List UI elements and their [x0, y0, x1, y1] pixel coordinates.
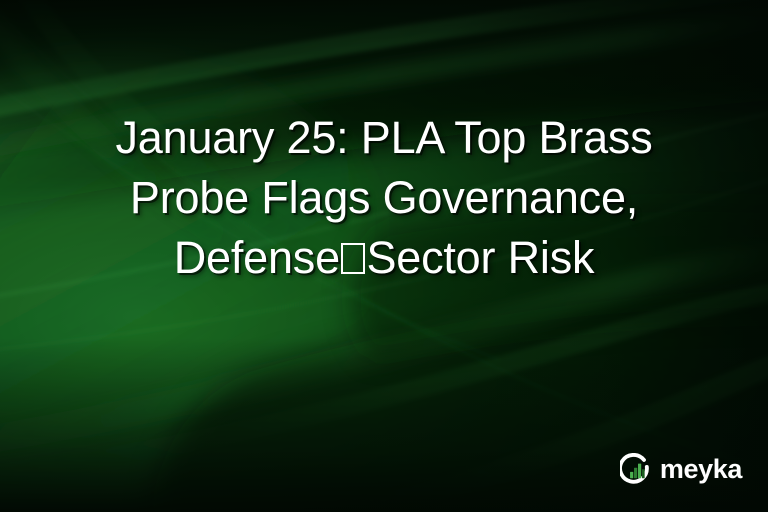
title-line-3-before-glyph: Defense	[174, 232, 340, 283]
meyka-circle-bars-logo-icon	[620, 453, 653, 486]
page-title: January 25: PLA Top BrassProbe Flags Gov…	[34, 108, 734, 288]
title-line-3-after-glyph: Sector Risk	[366, 232, 594, 283]
meyka-logo[interactable]: meyka	[620, 453, 742, 486]
title-line-2: Probe Flags Governance,	[130, 172, 638, 223]
title-line-1: January 25: PLA Top Brass	[116, 112, 653, 163]
missing-glyph-box-icon	[341, 243, 364, 275]
news-title-card: January 25: PLA Top BrassProbe Flags Gov…	[0, 0, 768, 512]
title-block: January 25: PLA Top BrassProbe Flags Gov…	[0, 108, 768, 288]
meyka-wordmark: meyka	[660, 456, 742, 483]
